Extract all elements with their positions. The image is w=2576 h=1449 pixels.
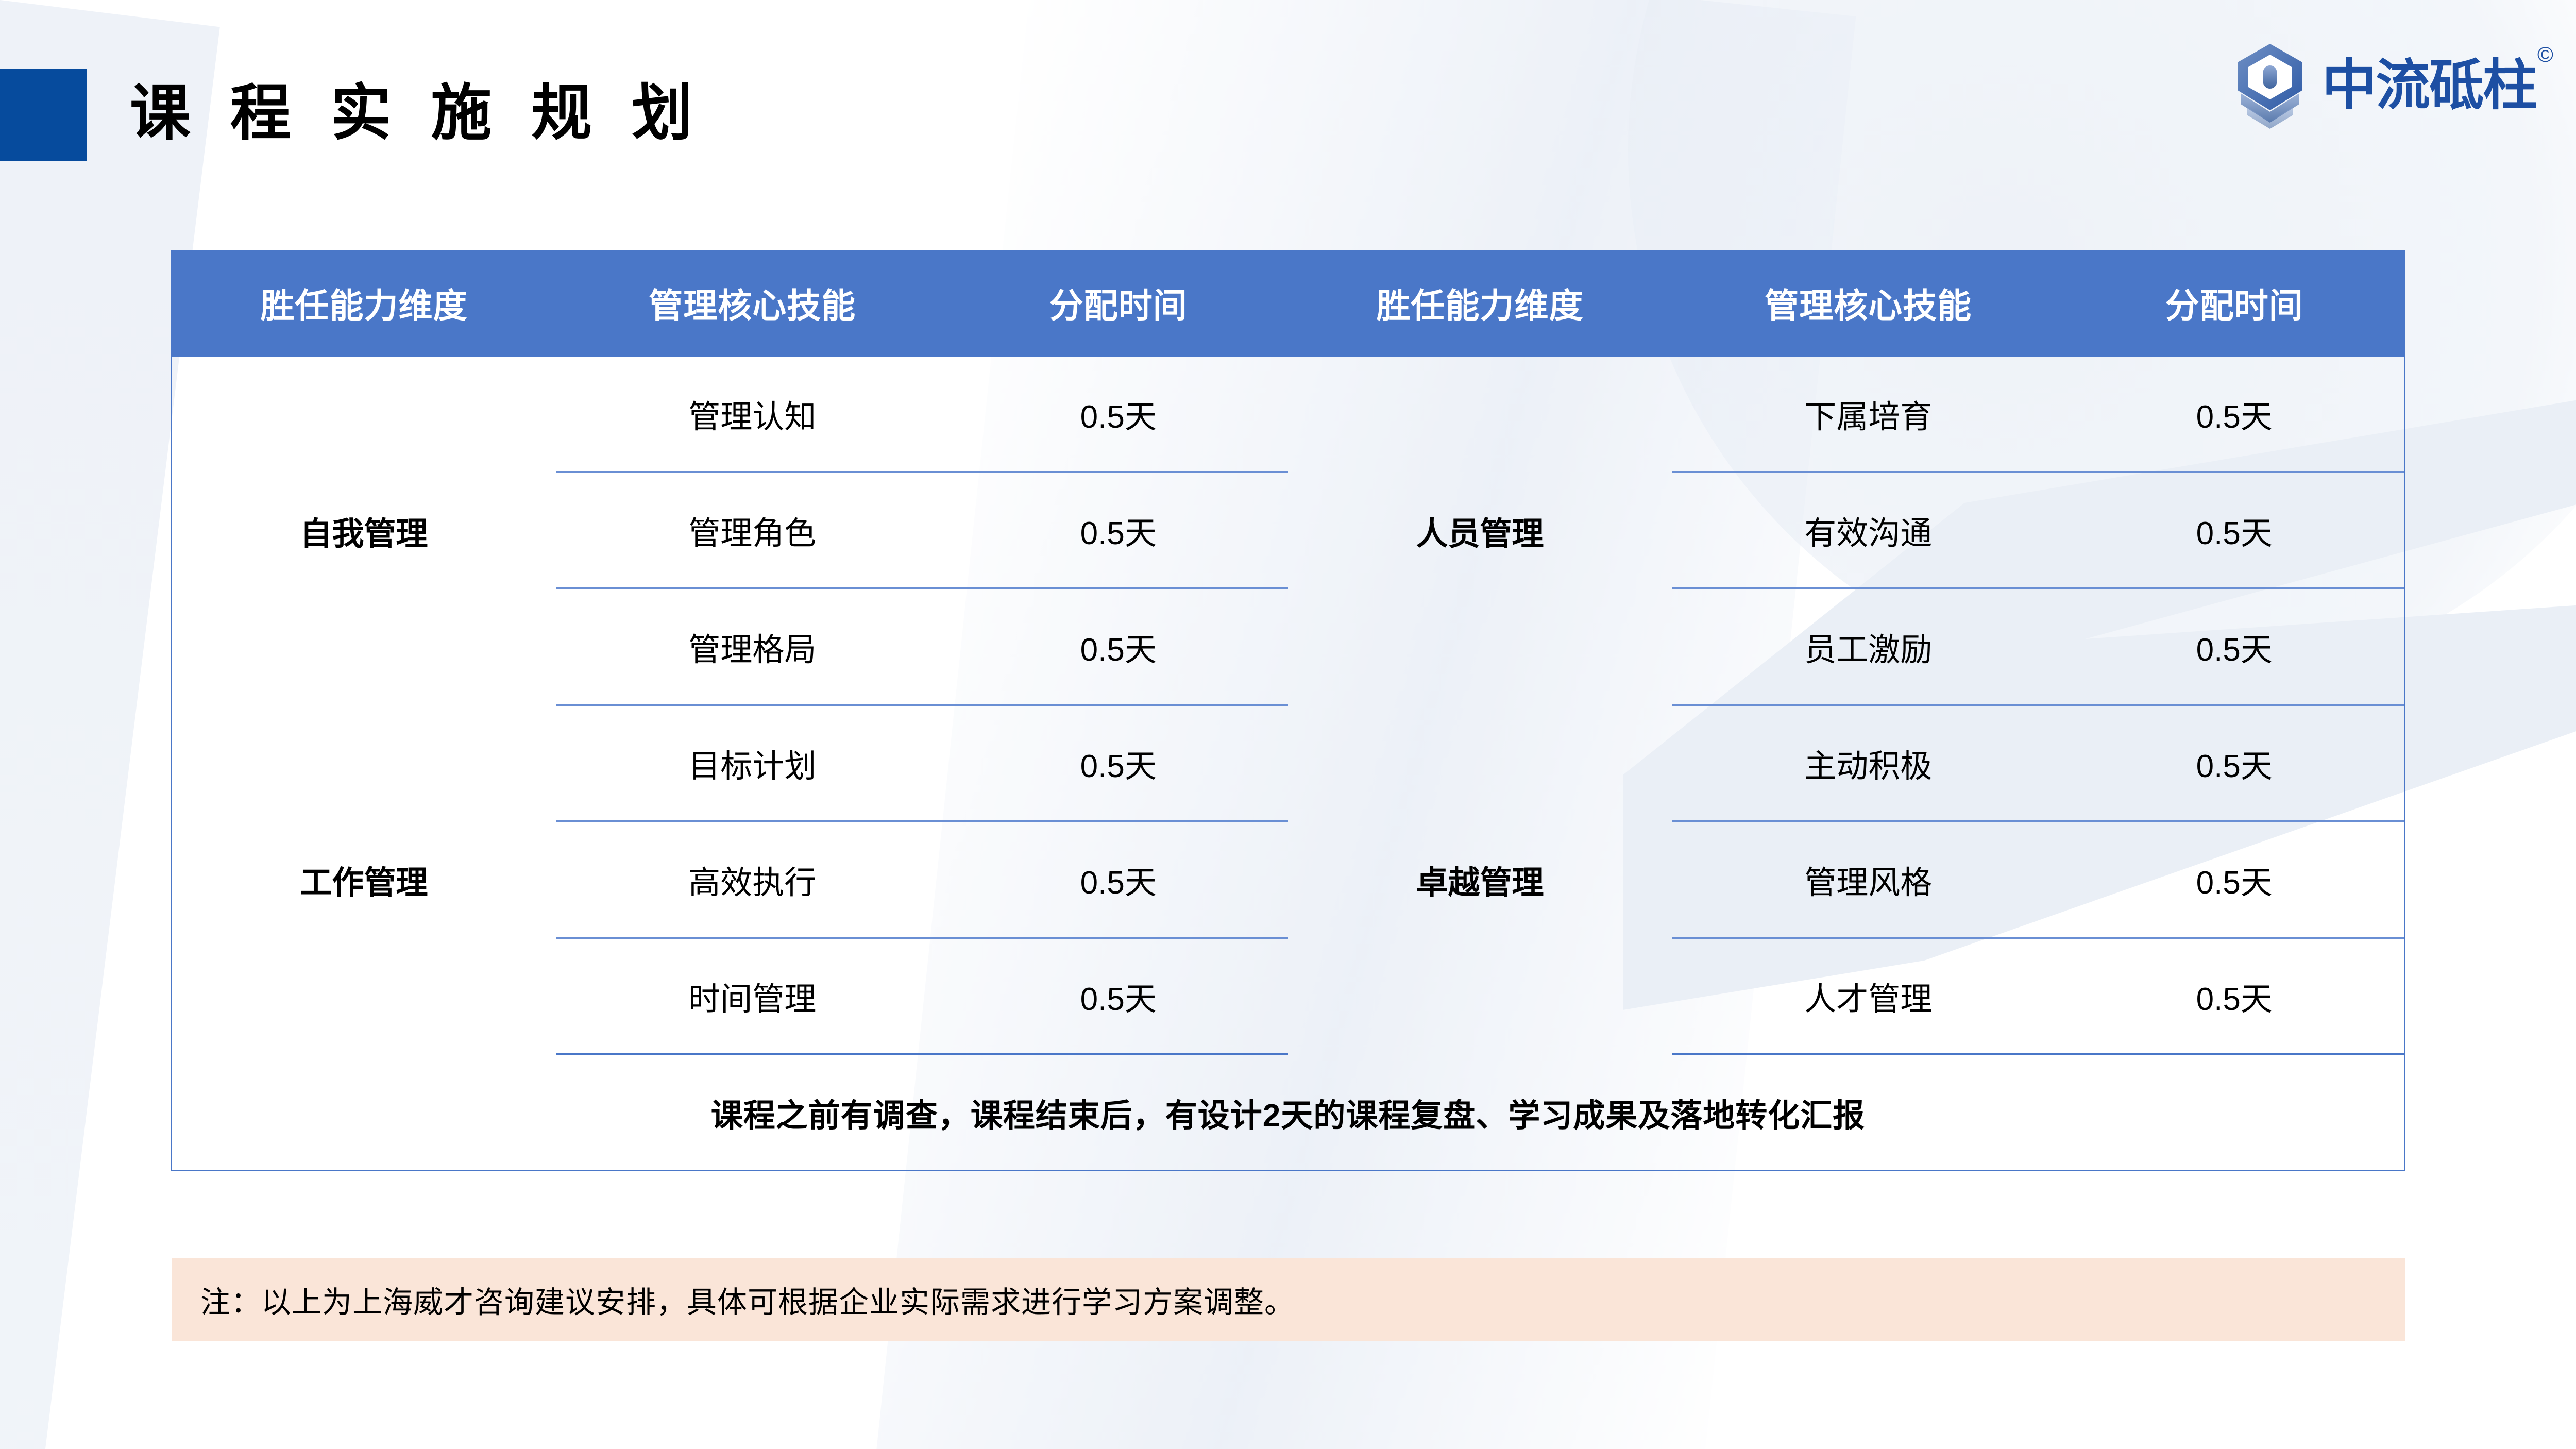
table-row: 工作管理 目标计划 0.5天 卓越管理 主动积极 0.5天 — [172, 705, 2404, 821]
table-row: 自我管理 管理认知 0.5天 人员管理 下属培育 0.5天 — [172, 357, 2404, 472]
brand-name: 中流砥柱 — [2322, 55, 2536, 116]
skill-cell: 时间管理 — [556, 938, 948, 1054]
time-cell: 0.5天 — [2064, 588, 2404, 705]
slide-canvas: 课 程 实 施 规 划 中流砥柱© — [0, 0, 2576, 1449]
skill-cell: 目标计划 — [556, 705, 948, 821]
skill-cell: 主动积极 — [1672, 705, 2064, 821]
course-plan-table: 胜任能力维度 管理核心技能 分配时间 胜任能力维度 管理核心技能 分配时间 自我… — [171, 250, 2405, 1171]
time-cell: 0.5天 — [949, 821, 1288, 938]
copyright-icon: © — [2537, 42, 2552, 66]
skill-cell: 有效沟通 — [1672, 472, 2064, 588]
column-header-right-skill: 管理核心技能 — [1672, 251, 2064, 357]
time-cell: 0.5天 — [949, 705, 1288, 821]
time-cell: 0.5天 — [2064, 938, 2404, 1054]
column-header-left-dimension: 胜任能力维度 — [172, 251, 556, 357]
time-cell: 0.5天 — [2064, 821, 2404, 938]
skill-cell: 管理角色 — [556, 472, 948, 588]
brand-logo-text: 中流砥柱© — [2322, 58, 2551, 113]
skill-cell: 管理认知 — [556, 357, 948, 472]
time-cell: 0.5天 — [2064, 357, 2404, 472]
time-cell: 0.5天 — [949, 938, 1288, 1054]
table-header-row: 胜任能力维度 管理核心技能 分配时间 胜任能力维度 管理核心技能 分配时间 — [172, 251, 2404, 357]
shield-hexagon-logo-icon — [2231, 42, 2309, 129]
time-cell: 0.5天 — [2064, 472, 2404, 588]
brand-logo: 中流砥柱© — [2231, 42, 2551, 129]
footnote-banner: 注：以上为上海威才咨询建议安排，具体可根据企业实际需求进行学习方案调整。 — [172, 1258, 2405, 1341]
dimension-cell-excellence-management: 卓越管理 — [1288, 705, 1672, 1054]
page-title: 课 程 实 施 规 划 — [130, 67, 704, 160]
time-cell: 0.5天 — [949, 357, 1288, 472]
footnote-text: 注：以上为上海威才咨询建议安排，具体可根据企业实际需求进行学习方案调整。 — [200, 1278, 1295, 1321]
column-header-left-time: 分配时间 — [949, 251, 1288, 357]
dimension-cell-work-management: 工作管理 — [172, 705, 556, 1054]
dimension-cell-self-management: 自我管理 — [172, 357, 556, 705]
column-header-left-skill: 管理核心技能 — [556, 251, 948, 357]
summary-text: 课程之前有调查，课程结束后，有设计2天的课程复盘、学习成果及落地转化汇报 — [172, 1054, 2404, 1170]
skill-cell: 管理格局 — [556, 588, 948, 705]
time-cell: 0.5天 — [2064, 705, 2404, 821]
time-cell: 0.5天 — [949, 588, 1288, 705]
table-summary-row: 课程之前有调查，课程结束后，有设计2天的课程复盘、学习成果及落地转化汇报 — [172, 1054, 2404, 1170]
title-accent-bar — [0, 69, 87, 161]
time-cell: 0.5天 — [949, 472, 1288, 588]
column-header-right-dimension: 胜任能力维度 — [1288, 251, 1672, 357]
skill-cell: 下属培育 — [1672, 357, 2064, 472]
dimension-cell-people-management: 人员管理 — [1288, 357, 1672, 705]
skill-cell: 高效执行 — [556, 821, 948, 938]
column-header-right-time: 分配时间 — [2064, 251, 2404, 357]
skill-cell: 人才管理 — [1672, 938, 2064, 1054]
skill-cell: 员工激励 — [1672, 588, 2064, 705]
skill-cell: 管理风格 — [1672, 821, 2064, 938]
